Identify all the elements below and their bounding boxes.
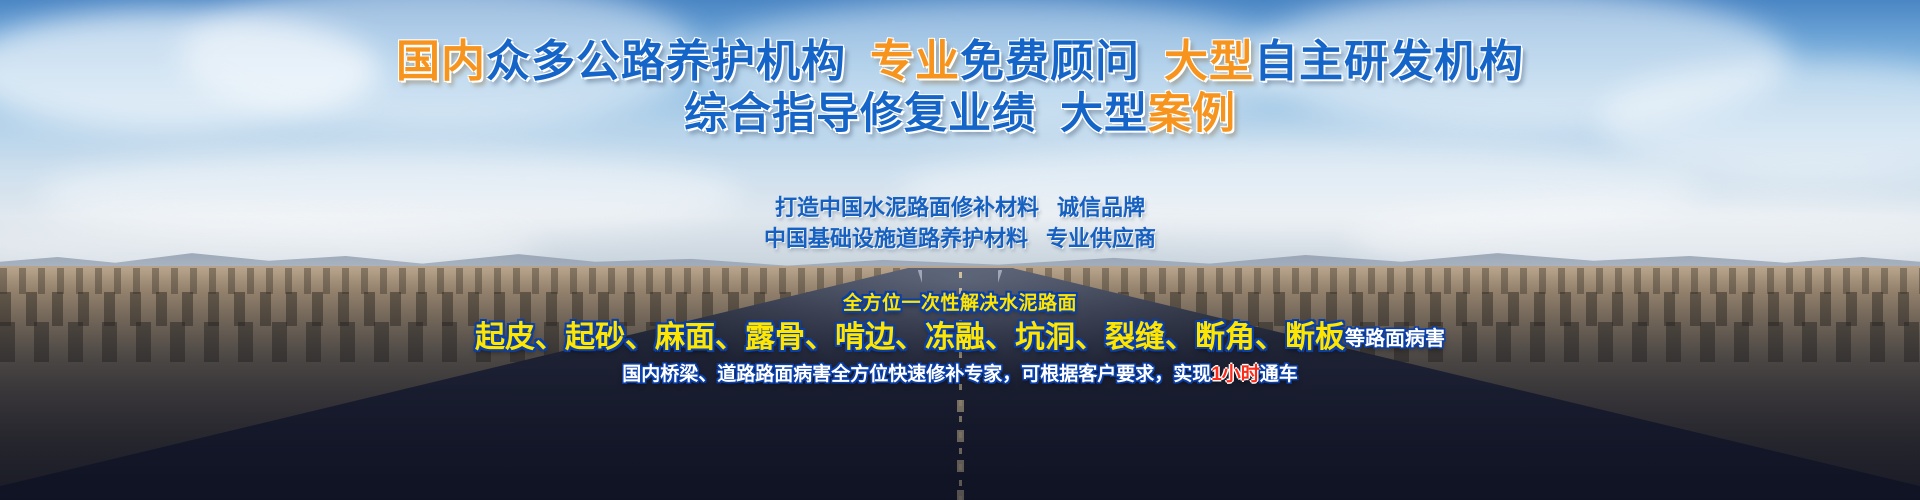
promotional-banner: 国内众多公路养护机构专业免费顾问大型自主研发机构 综合指导修复业绩大型案例 打造… [0,0,1920,500]
headline-seg-zizhu: 自主研发机构 [1254,37,1524,86]
headline-seg-zonghe: 综合指导修复业绩 [684,90,1036,138]
headline-seg-zhuanye: 专业 [870,37,960,86]
banner-content: 国内众多公路养护机构专业免费顾问大型自主研发机构 综合指导修复业绩大型案例 打造… [0,0,1920,500]
subheadline-text-c: 中国基础设施道路养护材料 [764,226,1028,251]
headline-seg-daxing-2: 大型 [1060,90,1148,138]
footer-highlight-duration: 1小时 [1211,364,1260,385]
lower-kicker-text: 全方位一次性解决水泥路面 [0,292,1920,316]
headline-seg-anli: 案例 [1148,90,1236,138]
lower-footer-line: 国内桥梁、道路路面病害全方位快速修补专家，可根据客户要求，实现1小时通车 [0,363,1920,387]
subheadline-block: 打造中国水泥路面修补材料诚信品牌 中国基础设施道路养护材料专业供应商 [0,192,1920,254]
subheadline-text-a: 打造中国水泥路面修补材料 [775,195,1039,220]
headline-seg-mianfei: 免费顾问 [960,37,1140,86]
subheadline-text-b: 诚信品牌 [1057,195,1145,220]
lower-defects-line: 起皮、起砂、麻面、露骨、啃边、冻融、坑洞、裂缝、断角、断板等路面病害 [0,320,1920,357]
headline-seg-daxing: 大型 [1164,37,1254,86]
headline-block: 国内众多公路养护机构专业免费顾问大型自主研发机构 综合指导修复业绩大型案例 [0,36,1920,140]
headline-line-1: 国内众多公路养护机构专业免费顾问大型自主研发机构 [0,36,1920,89]
defect-list-suffix: 等路面病害 [1345,328,1445,350]
footer-text-b: 通车 [1260,364,1298,385]
headline-line-2: 综合指导修复业绩大型案例 [0,89,1920,141]
subheadline-line-1: 打造中国水泥路面修补材料诚信品牌 [0,192,1920,223]
defect-list-text: 起皮、起砂、麻面、露骨、啃边、冻融、坑洞、裂缝、断角、断板 [475,321,1345,354]
subheadline-line-2: 中国基础设施道路养护材料专业供应商 [0,223,1920,254]
headline-seg-zhongduo: 众多公路养护机构 [486,37,846,86]
subheadline-text-d: 专业供应商 [1046,226,1156,251]
lower-message-block: 全方位一次性解决水泥路面 起皮、起砂、麻面、露骨、啃边、冻融、坑洞、裂缝、断角、… [0,292,1920,387]
footer-text-a: 国内桥梁、道路路面病害全方位快速修补专家，可根据客户要求，实现 [622,364,1211,385]
headline-seg-guonei: 国内 [396,37,486,86]
